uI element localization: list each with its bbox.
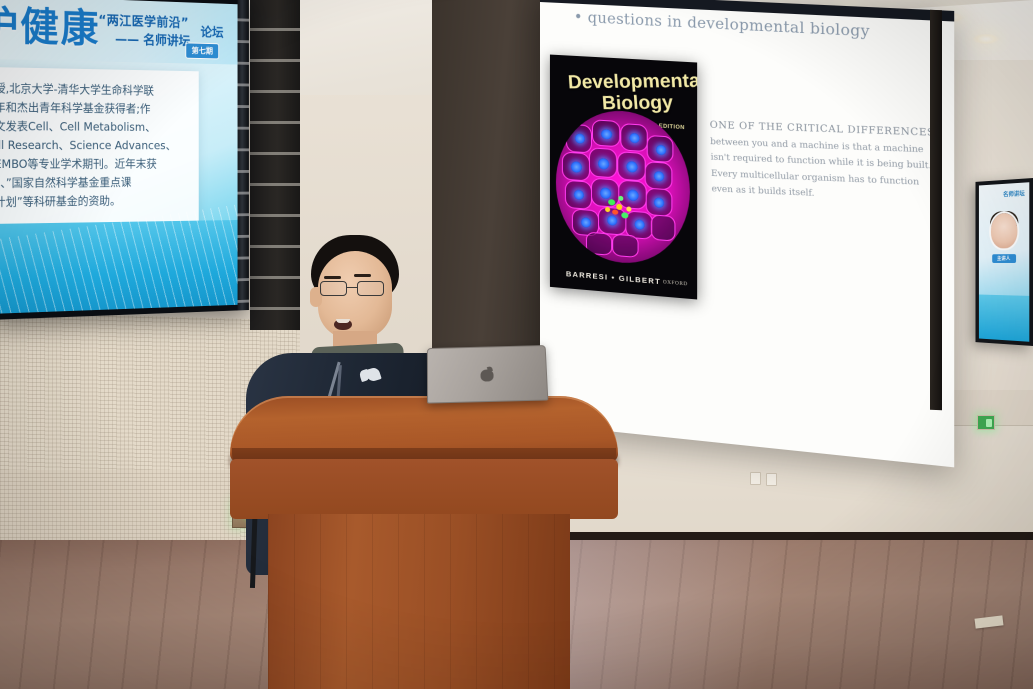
- led-forum-label: 论坛: [201, 22, 224, 41]
- apple-logo-icon: [480, 366, 493, 381]
- led-wave-graphic: [0, 220, 238, 314]
- led-display-left[interactable]: 护健康 “两江医学前沿” —— 名师讲坛 论坛 第七期 教授,北京大学-清华大学…: [0, 0, 249, 320]
- side-monitor-name-badge: 主讲人: [992, 254, 1016, 263]
- exit-sign-right: [977, 415, 995, 430]
- led-bio-line: 技计划”等科研基金的资助。: [0, 191, 190, 212]
- led-display-content: 护健康 “两江医学前沿” —— 名师讲坛 论坛 第七期 教授,北京大学-清华大学…: [0, 0, 238, 314]
- book-title-line1: Developmental: [567, 70, 697, 94]
- side-monitor-header: 名师讲坛: [1003, 188, 1025, 198]
- side-monitor-wave-graphic: [979, 295, 1029, 342]
- led-headline: 护健康: [0, 0, 100, 54]
- side-monitor-portrait: [990, 213, 1017, 249]
- led-episode-badge: 第七期: [185, 42, 219, 59]
- led-bio-line: Cell Research、Science Advances、: [0, 136, 190, 155]
- slide-quote-block: ONE OF THE CRITICAL DIFFERENCES between …: [710, 117, 946, 208]
- glasses-lens-left: [320, 281, 347, 296]
- led-subtitle-line2: —— 名师讲坛: [115, 29, 190, 49]
- side-wall-monitor[interactable]: 名师讲坛 主讲人: [976, 178, 1033, 346]
- screen-dark-edge: [930, 10, 942, 410]
- podium: 重庆医科大学 1956 CHONGQING MEDICAL UNIVERSITY: [230, 396, 618, 689]
- led-subtitle-line1: “两江医学前沿”: [98, 10, 189, 31]
- laptop[interactable]: [427, 345, 548, 404]
- slide-quote-lead: ONE OF THE CRITICAL DIFFERENCES: [710, 120, 935, 139]
- lecture-hall-photo: 护健康 “两江医学前沿” —— 名师讲坛 论坛 第七期 教授,北京大学-清华大学…: [0, 0, 1033, 689]
- book-authors: BARRESI • GILBERT: [566, 269, 661, 286]
- book-cover-image: Developmental Biology TWELFTH EDITION: [550, 55, 697, 300]
- podium-column: 重庆医科大学 1956 CHONGQING MEDICAL UNIVERSITY: [268, 514, 570, 689]
- book-publisher: OXFORD: [663, 280, 688, 287]
- wall-outlet-2: [766, 473, 777, 486]
- speaker-brow-left: [324, 276, 341, 279]
- glasses-bridge: [347, 287, 357, 288]
- led-bio-line: 金”、”国家自然科学基金重点课: [0, 173, 190, 193]
- glasses-lens-right: [357, 281, 384, 296]
- side-monitor-content: 名师讲坛 主讲人: [979, 182, 1029, 342]
- speaker-mouth: [334, 319, 352, 330]
- wall-outlet-1: [750, 472, 761, 485]
- led-bio-line: 教授,北京大学-清华大学生命科学联: [0, 79, 190, 101]
- apple-body: [480, 369, 493, 381]
- led-bio-line: 、EMBO等专业学术期刊。近年末获: [0, 155, 190, 174]
- podium-face-panel: [230, 459, 618, 519]
- led-bio-line: 青年和杰出青年科学基金获得者;作: [0, 98, 190, 119]
- led-bio-line: 论文发表Cell、Cell Metabolism、: [0, 117, 190, 137]
- north-face-logo-icon: [360, 367, 382, 382]
- downlight-2: [972, 33, 1000, 45]
- speaker-brow-right: [354, 274, 371, 277]
- slide-quote-body: between you and a machine is that a mach…: [710, 136, 932, 198]
- eyeglasses-icon: [320, 281, 394, 297]
